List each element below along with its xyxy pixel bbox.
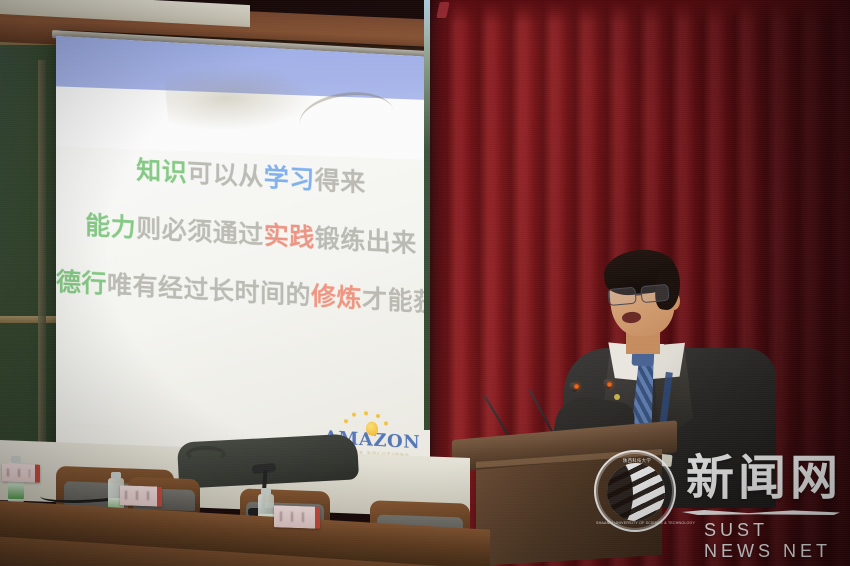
slide-seg-1-3: 学习 [264,163,315,195]
bag-strap [186,446,226,462]
name-placard [274,505,320,529]
slide-seg-1-2: 可以从 [187,158,264,191]
slide-seg-3-3: 修炼 [311,281,362,313]
projection-screen: 知识可以从学习得来 能力则必须通过实践锻练出来 德行唯有经过长时间的修炼才能获得… [56,36,446,488]
slide-seg-2-4: 锻练出来 [315,223,417,258]
photo-scene: 知识可以从学习得来 能力则必须通过实践锻练出来 德行唯有经过长时间的修炼才能获得… [0,0,850,566]
wall-corner-edge [38,60,46,500]
slide-seg-2-1: 能力 [85,211,136,243]
slide-seg-2-2: 则必须通过 [136,213,264,249]
lightbulb-icon [366,421,378,436]
name-placard [120,485,162,506]
slide-seg-1-1: 知识 [136,155,187,187]
slide-line-2: 能力则必须通过实践锻练出来 [56,204,446,262]
slide-seg-2-3: 实践 [264,221,315,253]
foreground-seating [0,440,470,566]
slide-seg-1-4: 得来 [315,165,366,197]
name-placard [2,463,40,482]
slide-seg-3-1: 德行 [56,267,107,299]
slide-text-block: 知识可以从学习得来 能力则必须通过实践锻练出来 德行唯有经过长时间的修炼才能获得 [56,146,446,320]
